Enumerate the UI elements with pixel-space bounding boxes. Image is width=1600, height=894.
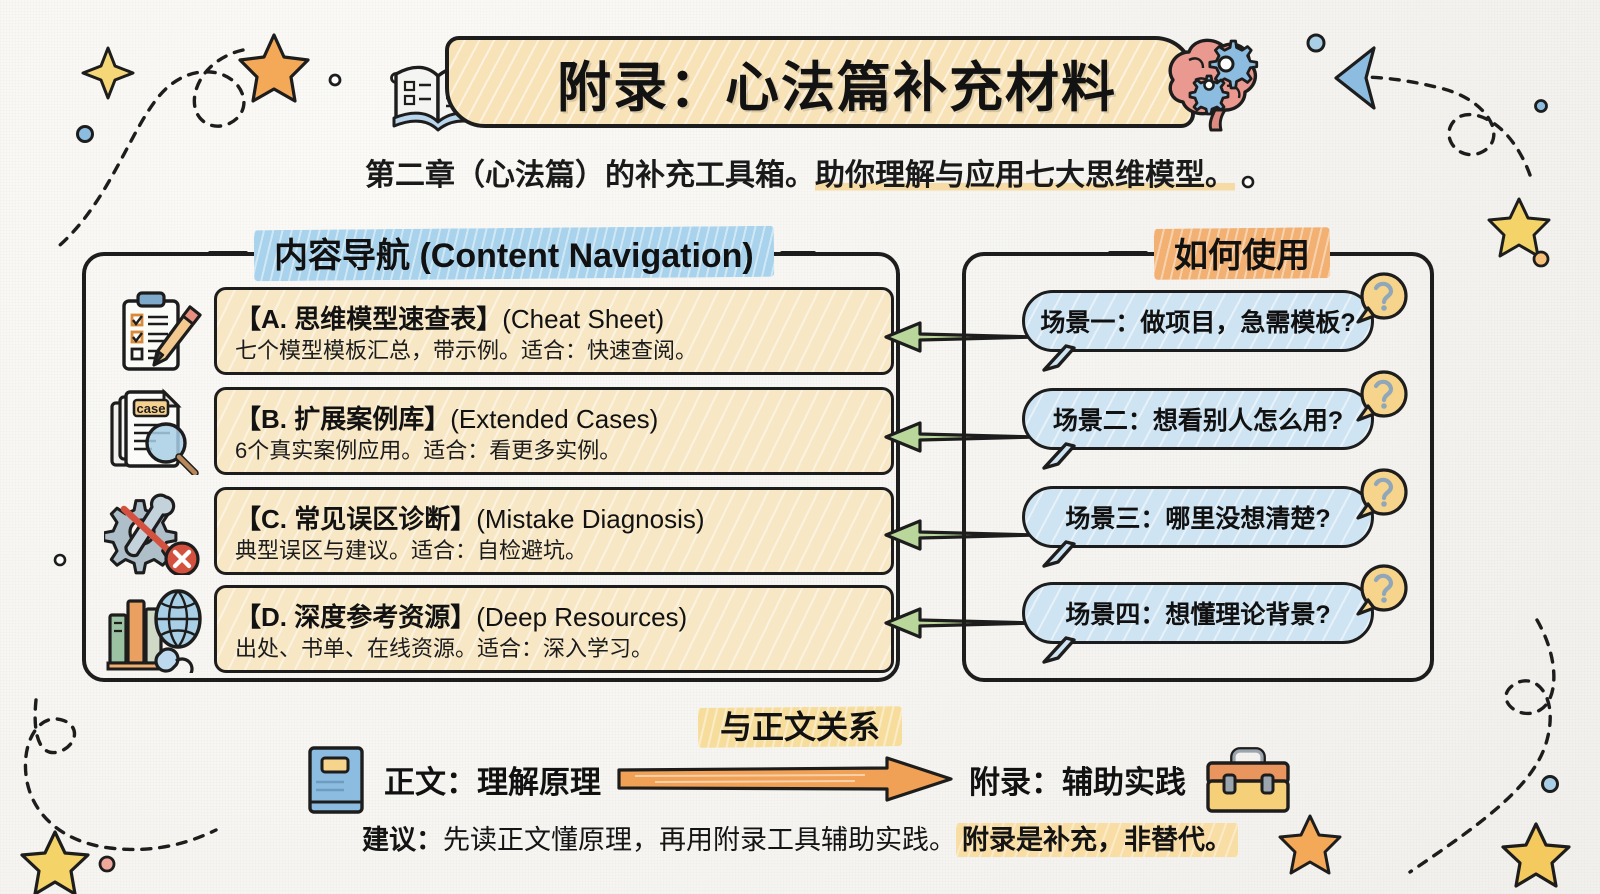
right-arrow-icon xyxy=(615,756,955,802)
toolbox-icon xyxy=(1200,741,1296,817)
content-navigation-heading: 内容导航 (Content Navigation) xyxy=(208,226,816,279)
scenario-1-text: 场景一：做项目，急需模板? xyxy=(1040,303,1355,339)
content-navigation-panel: 内容导航 (Content Navigation) 【A. 思维模型速查表】(C… xyxy=(82,252,900,682)
nav-card-b-desc: 6个真实案例应用。适合：看更多实例。 xyxy=(235,436,877,465)
nav-card-c[interactable]: 【C. 常见误区诊断】(Mistake Diagnosis) 典型误区与建议。适… xyxy=(104,484,894,578)
brain-gears-icon xyxy=(1153,24,1277,134)
bubble-tail-icon xyxy=(1040,344,1080,372)
bubble-tail-icon xyxy=(1040,636,1080,664)
advice-text: 建议：先读正文懂原理，再用附录工具辅助实践。附录是补充，非替代。 xyxy=(0,818,1600,857)
gear-icon xyxy=(1190,76,1228,114)
nav-card-a[interactable]: 【A. 思维模型速查表】(Cheat Sheet) 七个模型模板汇总，带示例。适… xyxy=(104,284,894,378)
nav-card-a-title-cn: 【A. 思维模型速查表】 xyxy=(235,304,502,334)
scenario-1[interactable]: 场景一：做项目，急需模板? xyxy=(988,282,1416,376)
question-badge-icon xyxy=(1354,564,1410,618)
subtitle: 第二章（心法篇）的补充工具箱。助你理解与应用七大思维模型。 xyxy=(0,150,1600,194)
svg-text:case: case xyxy=(137,401,166,416)
nav-card-c-desc: 典型误区与建议。适合：自检避坑。 xyxy=(235,536,877,565)
scenario-2-text: 场景二：想看别人怎么用? xyxy=(1053,401,1343,437)
relation-heading-label: 与正文关系 xyxy=(700,706,900,748)
usage-panel: 如何使用 场景一：做项目，急需模板? 场景二：想看别人怎么用? xyxy=(962,252,1434,682)
title-row: 附录：心法篇补充材料 xyxy=(0,24,1600,140)
clipboard-pencil-icon xyxy=(104,287,208,375)
question-badge-icon xyxy=(1354,370,1410,424)
relation-left-label: 正文：理解原理 xyxy=(384,757,601,802)
heading-dash-left xyxy=(208,251,248,255)
scenario-2[interactable]: 场景二：想看别人怎么用? xyxy=(988,380,1416,474)
nav-card-a-title: 【A. 思维模型速查表】(Cheat Sheet) xyxy=(235,302,877,336)
advice-body: 先读正文懂原理，再用附录工具辅助实践。 xyxy=(443,825,956,855)
usage-panel-heading: 如何使用 xyxy=(1108,226,1326,279)
nav-card-c-box[interactable]: 【C. 常见误区诊断】(Mistake Diagnosis) 典型误区与建议。适… xyxy=(214,487,894,575)
dot-orange xyxy=(1534,252,1548,266)
nav-card-d-title: 【D. 深度参考资源】(Deep Resources) xyxy=(235,600,877,634)
advice-prefix: 建议： xyxy=(362,825,443,855)
page-title: 附录：心法篇补充材料 xyxy=(557,43,1117,122)
nav-card-d[interactable]: 【D. 深度参考资源】(Deep Resources) 出处、书单、在线资源。适… xyxy=(104,582,894,676)
subtitle-part1: 第二章（心法篇）的补充工具箱。 xyxy=(365,159,815,192)
nav-card-d-desc: 出处、书单、在线资源。适合：深入学习。 xyxy=(235,634,877,663)
dot-pink xyxy=(100,857,114,871)
gear-wrench-error-icon xyxy=(104,487,208,575)
case-document-magnifier-icon: case xyxy=(104,387,208,475)
question-badge-icon xyxy=(1354,468,1410,522)
title-banner: 附录：心法篇补充材料 xyxy=(445,36,1195,128)
scenario-3-bubble[interactable]: 场景三：哪里没想清楚? xyxy=(1022,486,1374,548)
nav-card-b-title-cn: 【B. 扩展案例库】 xyxy=(235,404,450,434)
subtitle-part2: 助你理解与应用七大思维模型。 xyxy=(815,159,1235,192)
books-globe-link-icon xyxy=(104,585,208,673)
scenario-4[interactable]: 场景四：想懂理论背景? xyxy=(988,574,1416,668)
star-yellow-top-right xyxy=(1489,199,1549,256)
nav-card-b[interactable]: case 【B. 扩展案例库】(Extended Cases) 6个真实案例应用… xyxy=(104,384,894,478)
relation-right-label: 附录：辅助实践 xyxy=(969,757,1186,802)
heading-label: 如何使用 xyxy=(1158,226,1326,279)
nav-card-d-box[interactable]: 【D. 深度参考资源】(Deep Resources) 出处、书单、在线资源。适… xyxy=(214,585,894,673)
relation-flow-row: 正文：理解原理 附录：辅助实践 xyxy=(0,740,1600,818)
scenario-4-bubble[interactable]: 场景四：想懂理论背景? xyxy=(1022,582,1374,644)
nav-card-c-title: 【C. 常见误区诊断】(Mistake Diagnosis) xyxy=(235,502,877,536)
scenario-4-text: 场景四：想懂理论背景? xyxy=(1065,595,1330,631)
nav-card-b-title-en: (Extended Cases) xyxy=(450,404,658,434)
nav-card-b-title: 【B. 扩展案例库】(Extended Cases) xyxy=(235,402,877,436)
dot-white xyxy=(55,555,65,565)
scenario-2-bubble[interactable]: 场景二：想看别人怎么用? xyxy=(1022,388,1374,450)
advice-highlight: 附录是补充，非替代。 xyxy=(956,823,1238,857)
question-badge-icon xyxy=(1354,272,1410,326)
nav-card-d-title-en: (Deep Resources) xyxy=(476,602,687,632)
nav-card-b-box[interactable]: 【B. 扩展案例库】(Extended Cases) 6个真实案例应用。适合：看… xyxy=(214,387,894,475)
bubble-tail-icon xyxy=(1040,540,1080,568)
heading-dash-left xyxy=(1108,251,1148,255)
bubble-tail-icon xyxy=(1040,442,1080,470)
nav-card-a-box[interactable]: 【A. 思维模型速查表】(Cheat Sheet) 七个模型模板汇总，带示例。适… xyxy=(214,287,894,375)
blue-book-icon xyxy=(304,742,370,816)
nav-card-d-title-cn: 【D. 深度参考资源】 xyxy=(235,602,476,632)
scenario-1-bubble[interactable]: 场景一：做项目，急需模板? xyxy=(1022,290,1374,352)
scenario-3-text: 场景三：哪里没想清楚? xyxy=(1065,499,1330,535)
gear-icon xyxy=(1210,41,1257,88)
nav-card-a-desc: 七个模型模板汇总，带示例。适合：快速查阅。 xyxy=(235,336,877,365)
heading-dash-right xyxy=(780,251,816,255)
heading-label: 内容导航 (Content Navigation) xyxy=(258,226,770,279)
scenario-3[interactable]: 场景三：哪里没想清楚? xyxy=(988,478,1416,572)
nav-card-c-title-en: (Mistake Diagnosis) xyxy=(476,504,704,534)
nav-card-a-title-en: (Cheat Sheet) xyxy=(502,304,664,334)
nav-card-c-title-cn: 【C. 常见误区诊断】 xyxy=(235,504,476,534)
